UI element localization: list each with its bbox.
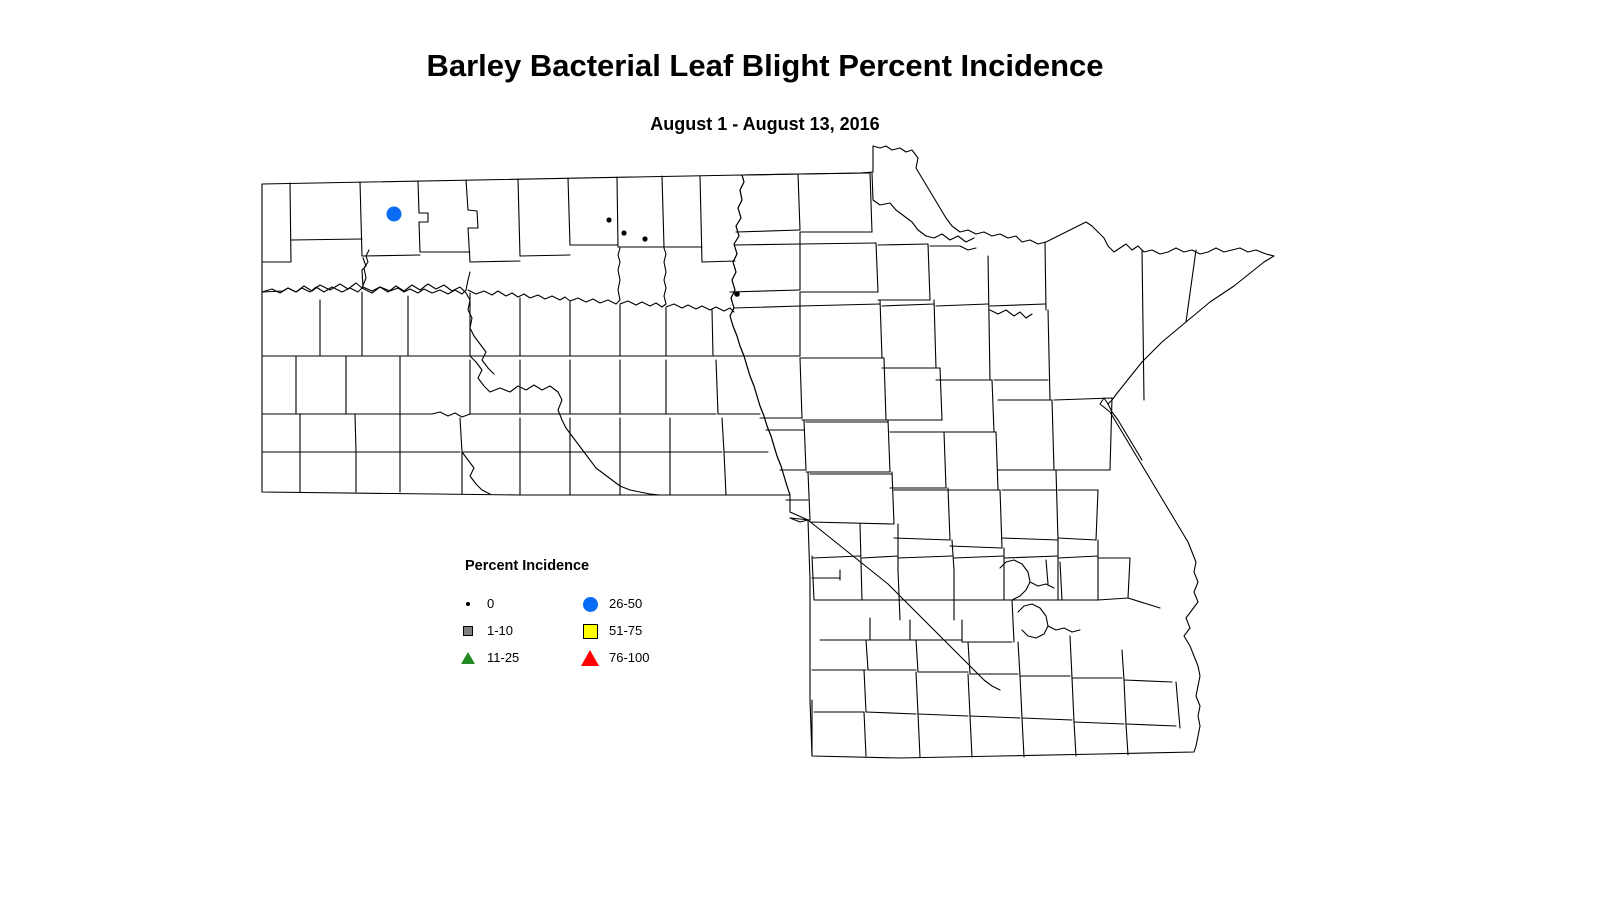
mn-grid-136 — [1020, 676, 1022, 718]
river-lower-1 — [474, 336, 494, 374]
mn-grid-33 — [800, 358, 802, 418]
nd-grid-23 — [570, 248, 620, 304]
mn-grid-10 — [730, 290, 800, 292]
data-point-0[interactable] — [734, 291, 740, 297]
nd-grid-24 — [620, 248, 666, 307]
minnesota-outline — [730, 146, 1274, 758]
mn-grid-45 — [1048, 310, 1050, 400]
mn-grid-132 — [916, 672, 918, 714]
mn-grid-117 — [866, 640, 868, 670]
legend-label: 0 — [487, 596, 494, 611]
mn-grid-86 — [862, 556, 898, 558]
red-triangle-icon — [577, 646, 603, 670]
nd-grid-13 — [617, 177, 618, 247]
blue-circle-icon — [577, 592, 603, 616]
mn-metro-6 — [1048, 626, 1080, 632]
nd-grid-71 — [460, 418, 462, 452]
nd-grid-22 — [468, 290, 570, 301]
legend-label: 26-50 — [609, 596, 642, 611]
nd-grid-3 — [360, 182, 362, 256]
mn-grid-82 — [1058, 538, 1096, 540]
mn-grid-12 — [876, 243, 878, 292]
mn-grid-151 — [1186, 250, 1196, 322]
mn-grid-30 — [990, 304, 1045, 306]
mn-grid-127 — [1122, 650, 1124, 680]
county-boundaries — [262, 146, 1274, 758]
mn-grid-89 — [952, 540, 954, 570]
nd-grid-1 — [290, 183, 291, 262]
mn-grid-56 — [996, 432, 998, 490]
mn-grid-15 — [928, 244, 930, 300]
mn-grid-27 — [936, 304, 988, 306]
mn-grid-128 — [1124, 680, 1172, 682]
mn-grid-5 — [870, 173, 872, 232]
green-triangle-icon — [455, 646, 481, 670]
mn-metro-3 — [1046, 560, 1048, 584]
mn-grid-7 — [872, 173, 926, 236]
nd-grid-81 — [722, 418, 724, 452]
mn-grid-73 — [894, 538, 950, 540]
nd-grid-12 — [520, 255, 570, 256]
mn-grid-106 — [1098, 598, 1128, 600]
mn-grid-137 — [1022, 718, 1072, 720]
nd-grid-4 — [291, 239, 362, 240]
mn-grid-47 — [804, 420, 806, 470]
mn-grid-107 — [1128, 598, 1160, 608]
mn-grid-64 — [1108, 404, 1142, 460]
nd-grid-67 — [355, 414, 356, 452]
nd-grid-21 — [363, 272, 470, 294]
mn-grid-145 — [918, 714, 920, 757]
map-canvas — [0, 0, 1612, 900]
nd-grid-43 — [712, 310, 713, 356]
map-page: Barley Bacterial Leaf Blight Percent Inc… — [0, 0, 1612, 900]
nd-grid-91 — [724, 452, 726, 495]
mn-grid-134 — [968, 674, 970, 716]
mn-grid-148 — [1074, 722, 1076, 756]
nd-grid-9 — [518, 179, 520, 256]
mn-grid-119 — [916, 640, 918, 672]
mn-grid-141 — [1126, 724, 1176, 726]
mn-grid-135 — [970, 716, 1020, 718]
mn-grid-53 — [944, 432, 946, 488]
mn-grid-133 — [918, 714, 968, 716]
dot-icon — [455, 592, 481, 616]
mn-grid-150 — [1142, 250, 1144, 400]
mn-metro-4 — [1060, 562, 1062, 600]
mn-grid-59 — [1052, 400, 1054, 470]
nd-grid-6 — [362, 255, 420, 256]
mn-grid-28 — [988, 256, 990, 380]
mn-grid-139 — [1074, 722, 1124, 724]
legend-label: 11-25 — [487, 650, 519, 665]
mn-grid-140 — [1124, 680, 1126, 724]
legend: Percent Incidence 0 1-10 11-25 26-50 — [455, 552, 695, 682]
data-point-26-50[interactable] — [387, 207, 402, 222]
mn-metro-2 — [1030, 582, 1054, 588]
mn-grid-66 — [808, 472, 810, 520]
states-counties-map — [0, 0, 1612, 900]
mn-grid-144 — [864, 712, 866, 756]
mn-grid-18 — [734, 306, 800, 308]
north-dakota-outline — [262, 175, 790, 495]
mn-grid-94 — [1058, 556, 1098, 558]
mn-grid-88 — [898, 556, 952, 558]
missouri-river-sakakawea — [262, 250, 369, 293]
mn-grid-78 — [1056, 470, 1058, 540]
mn-grid-31 — [1045, 242, 1046, 310]
mn-grid-115 — [1012, 600, 1014, 642]
data-point-0[interactable] — [606, 217, 611, 222]
gray-square-icon — [455, 619, 481, 643]
mn-grid-90 — [954, 556, 1004, 558]
mn-grid-149 — [1126, 724, 1128, 755]
mn-grid-75 — [1000, 490, 1002, 548]
mn-metro-5 — [1018, 604, 1048, 638]
nd-grid-25 — [666, 304, 734, 312]
legend-title: Percent Incidence — [465, 558, 589, 574]
data-point-0[interactable] — [621, 230, 626, 235]
mn-lake-of-woods — [926, 234, 974, 242]
mn-grid-1 — [742, 174, 798, 175]
nd-grid-15 — [662, 176, 664, 247]
mn-grid-72 — [948, 488, 950, 540]
nd-grid-5 — [418, 181, 428, 252]
mn-grid-142 — [1176, 682, 1180, 728]
mn-grid-81 — [1096, 490, 1098, 540]
nd-grid-19 — [702, 261, 735, 262]
mn-grid-17 — [930, 246, 976, 250]
mn-grid-125 — [1070, 636, 1072, 678]
legend-label: 51-75 — [609, 623, 642, 638]
mn-grid-2 — [798, 174, 800, 230]
mn-grid-92 — [1004, 556, 1058, 558]
mn-grid-76 — [950, 546, 1002, 548]
legend-label: 76-100 — [609, 650, 649, 665]
mn-grid-24 — [882, 304, 934, 306]
mn-grid-147 — [1022, 718, 1024, 757]
mn-grid-4 — [800, 173, 870, 174]
mn-grid-3 — [736, 230, 800, 232]
nd-grid-51 — [400, 412, 470, 417]
mn-grid-130 — [864, 670, 866, 712]
nd-grid-10 — [470, 261, 520, 262]
minnesota-river — [808, 520, 1000, 690]
mn-grid-138 — [1072, 678, 1074, 722]
mn-grid-146 — [970, 716, 972, 757]
mn-grid-14 — [878, 244, 928, 245]
mn-grid-22 — [880, 300, 882, 358]
nd-grid-11 — [568, 178, 570, 245]
mn-grid-50 — [888, 420, 890, 472]
nd-grid-62 — [716, 360, 718, 414]
data-point-0[interactable] — [642, 236, 647, 241]
yellow-square-icon — [577, 619, 603, 643]
mn-grid-70 — [810, 522, 894, 524]
mn-grid-25 — [934, 300, 936, 368]
nd-grid-17 — [700, 176, 702, 262]
mn-grid-39 — [940, 368, 942, 420]
mn-grid-97 — [1128, 558, 1130, 598]
mn-grid-123 — [1018, 642, 1020, 676]
mn-grid-42 — [992, 380, 994, 432]
mn-grid-21 — [800, 304, 880, 306]
mn-upper-red-lake — [990, 310, 1032, 318]
mn-grid-79 — [1002, 538, 1058, 540]
nd-grid-7 — [466, 180, 478, 262]
mn-grid-36 — [884, 358, 886, 420]
river-lower-3 — [462, 452, 490, 494]
mn-grid-11 — [800, 243, 876, 244]
mn-grid-131 — [866, 712, 916, 714]
lake-oahe-sheyenne — [470, 356, 584, 452]
mn-grid-69 — [892, 472, 894, 524]
mn-grid-121 — [968, 642, 970, 674]
mn-grid-8 — [734, 244, 800, 245]
river-lower-2 — [584, 452, 670, 495]
legend-label: 1-10 — [487, 623, 513, 638]
